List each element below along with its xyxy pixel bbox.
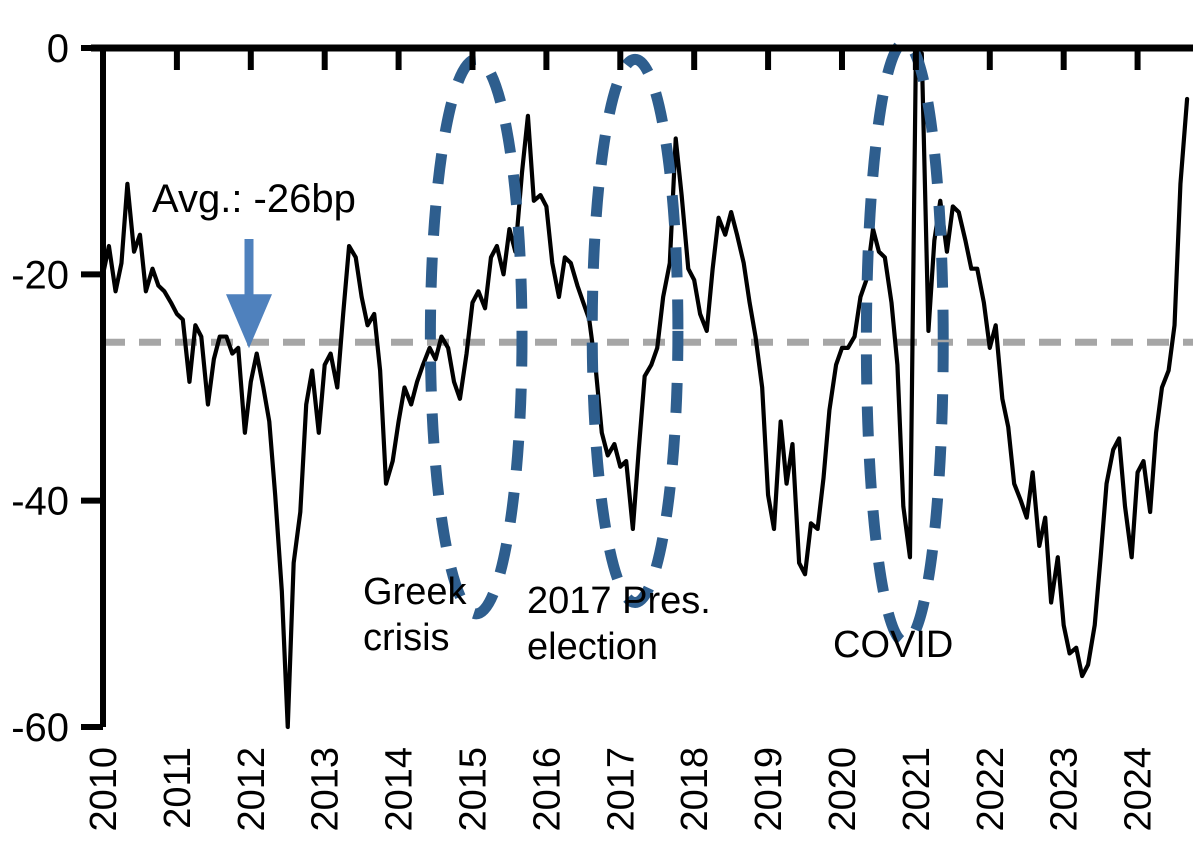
x-tick-label-2012: 2012 [231,747,273,832]
x-tick-label-2019: 2019 [748,747,790,832]
x-tick-label-2021: 2021 [896,747,938,832]
x-tick-label-2018: 2018 [674,747,716,832]
x-tick-label-2022: 2022 [970,747,1012,832]
x-tick-label-2014: 2014 [379,747,421,832]
x-tick-label-2023: 2023 [1044,747,1086,832]
x-tick-label-2015: 2015 [452,747,494,832]
x-tick-label-2016: 2016 [526,747,568,832]
x-tick-label-2013: 2013 [305,747,347,832]
y-tick-label-0: 0 [47,27,69,71]
average-label: Avg.: -26bp [152,177,356,221]
x-tick-label-2011: 2011 [157,747,199,829]
y-tick-label--60: -60 [11,706,69,750]
x-tick-label-2010: 2010 [83,747,125,832]
y-tick-label--40: -40 [11,480,69,524]
x-axis-tick-labels: 2010201120122013201420152016201720182019… [83,747,1160,832]
line-chart: 0-20-40-60 20102011201220132014201520162… [0,0,1200,852]
x-tick-label-2024: 2024 [1118,747,1160,832]
annotation-label-covid: COVID [833,624,953,666]
y-tick-label--20: -20 [11,253,69,297]
x-tick-label-2020: 2020 [822,747,864,832]
x-tick-label-2017: 2017 [600,747,642,832]
chart-canvas: 0-20-40-60 20102011201220132014201520162… [0,0,1200,852]
